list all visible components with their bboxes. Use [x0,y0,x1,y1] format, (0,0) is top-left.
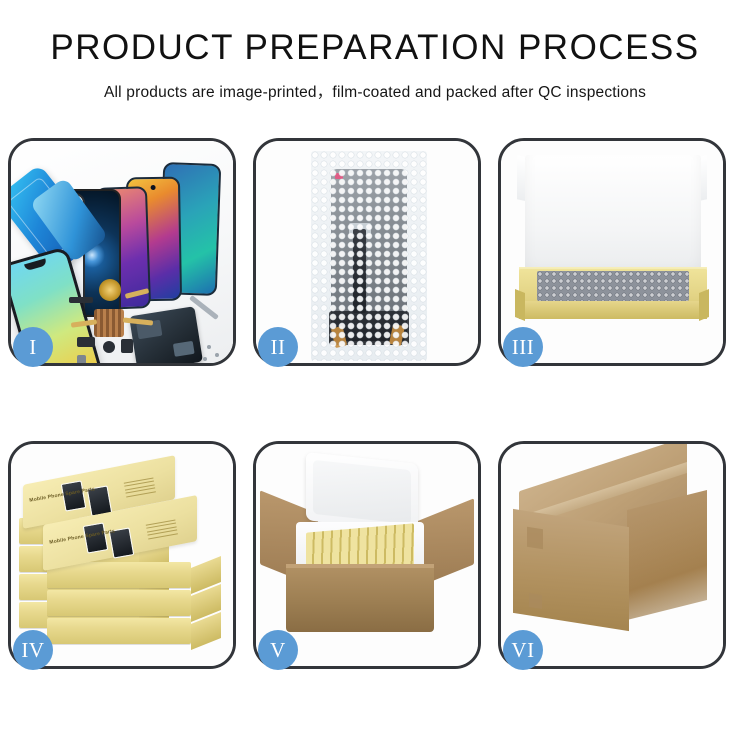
screw-1 [207,345,211,349]
step-panel-4: Mobile Phone Spare Parts Mobile Phone Sp… [8,441,236,669]
step-panel-5: V [253,441,481,669]
camera-module-part [77,337,95,347]
carton-right-face [627,490,707,620]
logic-board [129,306,203,363]
box-stack: Mobile Phone Spare Parts Mobile Phone Sp… [19,466,227,658]
page-header: PRODUCT PREPARATION PROCESS All products… [0,0,750,102]
step-panel-6: VI [498,441,726,669]
yellow-box-front [519,301,707,319]
step-panel-1: I [8,138,236,366]
grey-bubble-wrap-contents [537,271,689,301]
button-part [103,341,115,353]
step-badge-1: I [13,327,53,367]
step-badge-4: IV [13,630,53,670]
page-subtitle: All products are image-printed，film-coat… [0,80,750,102]
process-steps-grid: I II [8,138,742,669]
box-corner-left [515,289,525,321]
sim-tray-part [77,355,86,363]
stacked-box-front-3 [47,618,191,644]
speaker-coil-part [99,279,121,301]
white-foam-lid [525,155,701,279]
carton-tab-upper [527,527,543,550]
screw-2 [215,353,219,357]
box-corner-right [699,289,709,321]
screw-3 [203,357,207,361]
step-badge-5: V [258,630,298,670]
step-panel-2: II [253,138,481,366]
stacked-box-front-2 [47,590,191,616]
step-badge-3: III [503,327,543,367]
carton-tab-lower [529,593,542,609]
battery-connector-part [121,339,133,353]
connector-grid-part [94,309,124,337]
earpiece-part [69,297,93,303]
bubble-wrap-bag [311,151,427,361]
step-badge-2: II [258,327,298,367]
foam-box-lid-open [306,452,418,532]
page-title: PRODUCT PREPARATION PROCESS [0,30,750,67]
carton-front-panel [286,568,434,632]
step-badge-6: VI [503,630,543,670]
bubble-texture [311,151,427,361]
step-panel-3: III [498,138,726,366]
